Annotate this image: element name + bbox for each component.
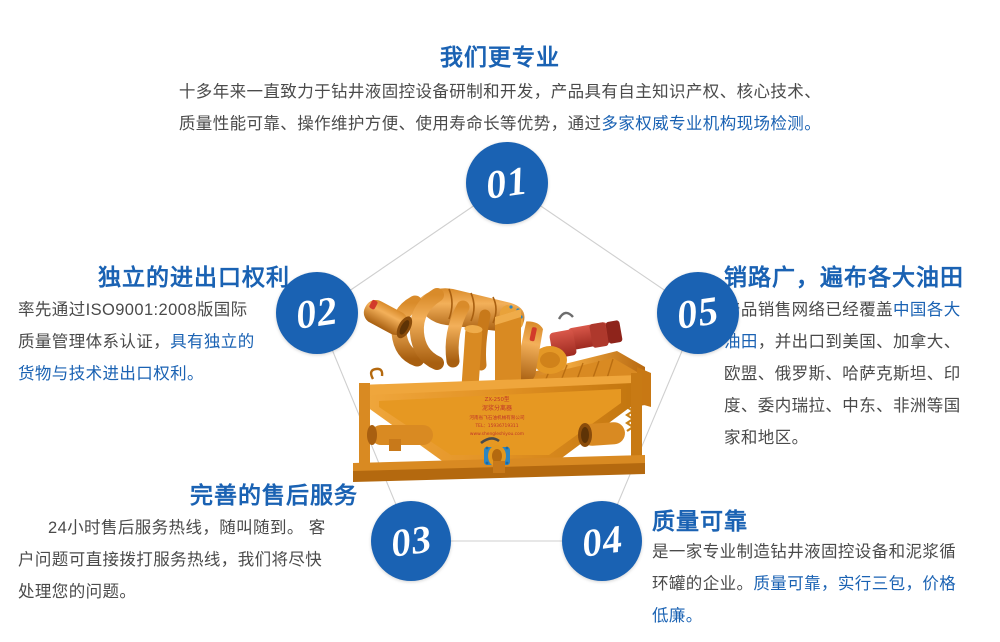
feature-05-line-2: 油田，并出口到美国、加拿大、 xyxy=(724,326,992,358)
feature-02-line1-text: 率先通过ISO9001:2008版国际 xyxy=(18,301,248,319)
feature-01-title: 我们更专业 xyxy=(150,44,850,70)
support-leg xyxy=(493,461,505,473)
badge-03[interactable]: 03 xyxy=(371,501,451,581)
feature-01-line-1: 十多年来一直致力于钻井液固控设备研制和开发，产品具有自主知识产权、核心技术、 xyxy=(150,76,850,108)
feature-03-body: 24小时售后服务热线，随叫随到。 客 户问题可直接拨打服务热线，我们将尽快 处理… xyxy=(18,512,358,608)
feature-block-02: 独立的进出口权利 率先通过ISO9001:2008版国际 质量管理体系认证，具有… xyxy=(18,264,290,390)
feature-04-body: 是一家专业制造钻井液固控设备和泥浆循 环罐的企业。质量可靠，实行三包，价格 低廉… xyxy=(652,536,992,632)
badge-02-number: 02 xyxy=(293,290,340,335)
feature-03-line-3: 处理您的问题。 xyxy=(18,576,358,608)
feature-05-line1-text: 产品销售网络已经覆盖 xyxy=(724,301,893,319)
placard-tel: TEL：15936719311 xyxy=(474,423,518,429)
feature-05-line-5: 家和地区。 xyxy=(724,422,992,454)
feature-03-title: 完善的售后服务 xyxy=(18,482,358,508)
feature-05-line2-text: ，并出口到美国、加拿大、 xyxy=(758,333,961,351)
feature-04-line-1: 是一家专业制造钻井液固控设备和泥浆循 xyxy=(652,536,992,568)
promo-infographic: ZX-250型 泥浆分离器 河南省飞石油机械有限公司 TEL：159367193… xyxy=(0,0,1000,642)
feature-01-line1-text: 十多年来一直致力于钻井液固控设备研制和开发，产品具有自主知识产权、核心技术、 xyxy=(179,83,821,101)
feature-04-line1-text: 是一家专业制造钻井液固控设备和泥浆循 xyxy=(652,543,956,561)
feature-04-line3-highlight: 低廉。 xyxy=(652,607,703,625)
placard-model: ZX-250型 xyxy=(485,395,510,403)
feature-05-line4-text: 度、委内瑞拉、中东、非洲等国 xyxy=(724,397,961,415)
feature-02-line3-highlight: 货物与技术进出口权利。 xyxy=(18,365,204,383)
feature-02-line2-text: 质量管理体系认证， xyxy=(18,333,170,351)
feature-05-line5-text: 家和地区。 xyxy=(724,429,809,447)
feature-05-line-4: 度、委内瑞拉、中东、非洲等国 xyxy=(724,390,992,422)
feature-block-05: 销路广，遍布各大油田 产品销售网络已经覆盖中国各大 油田，并出口到美国、加拿大、… xyxy=(724,264,992,454)
badge-04-number: 04 xyxy=(579,519,625,563)
feature-01-body: 十多年来一直致力于钻井液固控设备研制和开发，产品具有自主知识产权、核心技术、 质… xyxy=(150,76,850,140)
feature-05-line1-highlight: 中国各大 xyxy=(893,301,961,319)
feature-block-01: 我们更专业 十多年来一直致力于钻井液固控设备研制和开发，产品具有自主知识产权、核… xyxy=(150,44,850,140)
placard-web: www.shengleshiyou.com xyxy=(470,431,524,437)
feature-01-line2-text: 质量性能可靠、操作维护方便、使用寿命长等优势，通过 xyxy=(179,115,602,133)
feature-04-line-2: 环罐的企业。质量可靠，实行三包，价格 xyxy=(652,568,992,600)
feature-05-line-3: 欧盟、俄罗斯、哈萨克斯坦、印 xyxy=(724,358,992,390)
feature-03-line-1: 24小时售后服务热线，随叫随到。 客 xyxy=(18,512,358,544)
feature-02-title: 独立的进出口权利 xyxy=(18,264,290,290)
feature-02-line-3: 货物与技术进出口权利。 xyxy=(18,358,290,390)
badge-02[interactable]: 02 xyxy=(276,272,358,354)
feature-03-line-2: 户问题可直接拨打服务热线，我们将尽快 xyxy=(18,544,358,576)
feature-03-line3-text: 处理您的问题。 xyxy=(18,583,136,601)
product-image-mud-separator: ZX-250型 泥浆分离器 河南省飞石油机械有限公司 TEL：159367193… xyxy=(345,255,655,490)
placard-product: 泥浆分离器 xyxy=(482,404,512,412)
feature-02-line-2: 质量管理体系认证，具有独立的 xyxy=(18,326,290,358)
feature-04-line2-text: 环罐的企业。 xyxy=(652,575,753,593)
feature-05-title: 销路广，遍布各大油田 xyxy=(724,264,992,290)
badge-04[interactable]: 04 xyxy=(562,501,642,581)
feature-block-04: 质量可靠 是一家专业制造钻井液固控设备和泥浆循 环罐的企业。质量可靠，实行三包，… xyxy=(652,508,992,632)
feature-04-line-3: 低廉。 xyxy=(652,600,992,632)
placard-company: 河南省飞石油机械有限公司 xyxy=(469,414,525,421)
feature-04-title: 质量可靠 xyxy=(652,508,992,534)
feature-05-body: 产品销售网络已经覆盖中国各大 油田，并出口到美国、加拿大、 欧盟、俄罗斯、哈萨克… xyxy=(724,294,992,454)
badge-01-number: 01 xyxy=(483,160,530,205)
badge-05-number: 05 xyxy=(674,290,721,335)
feature-01-line2-highlight: 多家权威专业机构现场检测。 xyxy=(601,115,821,133)
feature-block-03: 完善的售后服务 24小时售后服务热线，随叫随到。 客 户问题可直接拨打服务热线，… xyxy=(18,482,358,608)
feature-05-line3-text: 欧盟、俄罗斯、哈萨克斯坦、印 xyxy=(724,365,961,383)
feature-02-body: 率先通过ISO9001:2008版国际 质量管理体系认证，具有独立的 货物与技术… xyxy=(18,294,290,390)
badge-03-number: 03 xyxy=(388,519,434,563)
feature-03-line1-text: 24小时售后服务热线，随叫随到。 客 xyxy=(48,519,326,537)
feature-03-line2-text: 户问题可直接拨打服务热线，我们将尽快 xyxy=(18,551,322,569)
badge-01[interactable]: 01 xyxy=(466,142,548,224)
feature-02-line2-highlight: 具有独立的 xyxy=(170,333,255,351)
feature-02-line-1: 率先通过ISO9001:2008版国际 xyxy=(18,294,290,326)
feature-04-line2-highlight: 质量可靠，实行三包，价格 xyxy=(753,575,956,593)
badge-05[interactable]: 05 xyxy=(657,272,739,354)
feature-05-line-1: 产品销售网络已经覆盖中国各大 xyxy=(724,294,992,326)
right-outlet-pipe xyxy=(578,421,626,447)
feature-01-line-2: 质量性能可靠、操作维护方便、使用寿命长等优势，通过多家权威专业机构现场检测。 xyxy=(150,108,850,140)
